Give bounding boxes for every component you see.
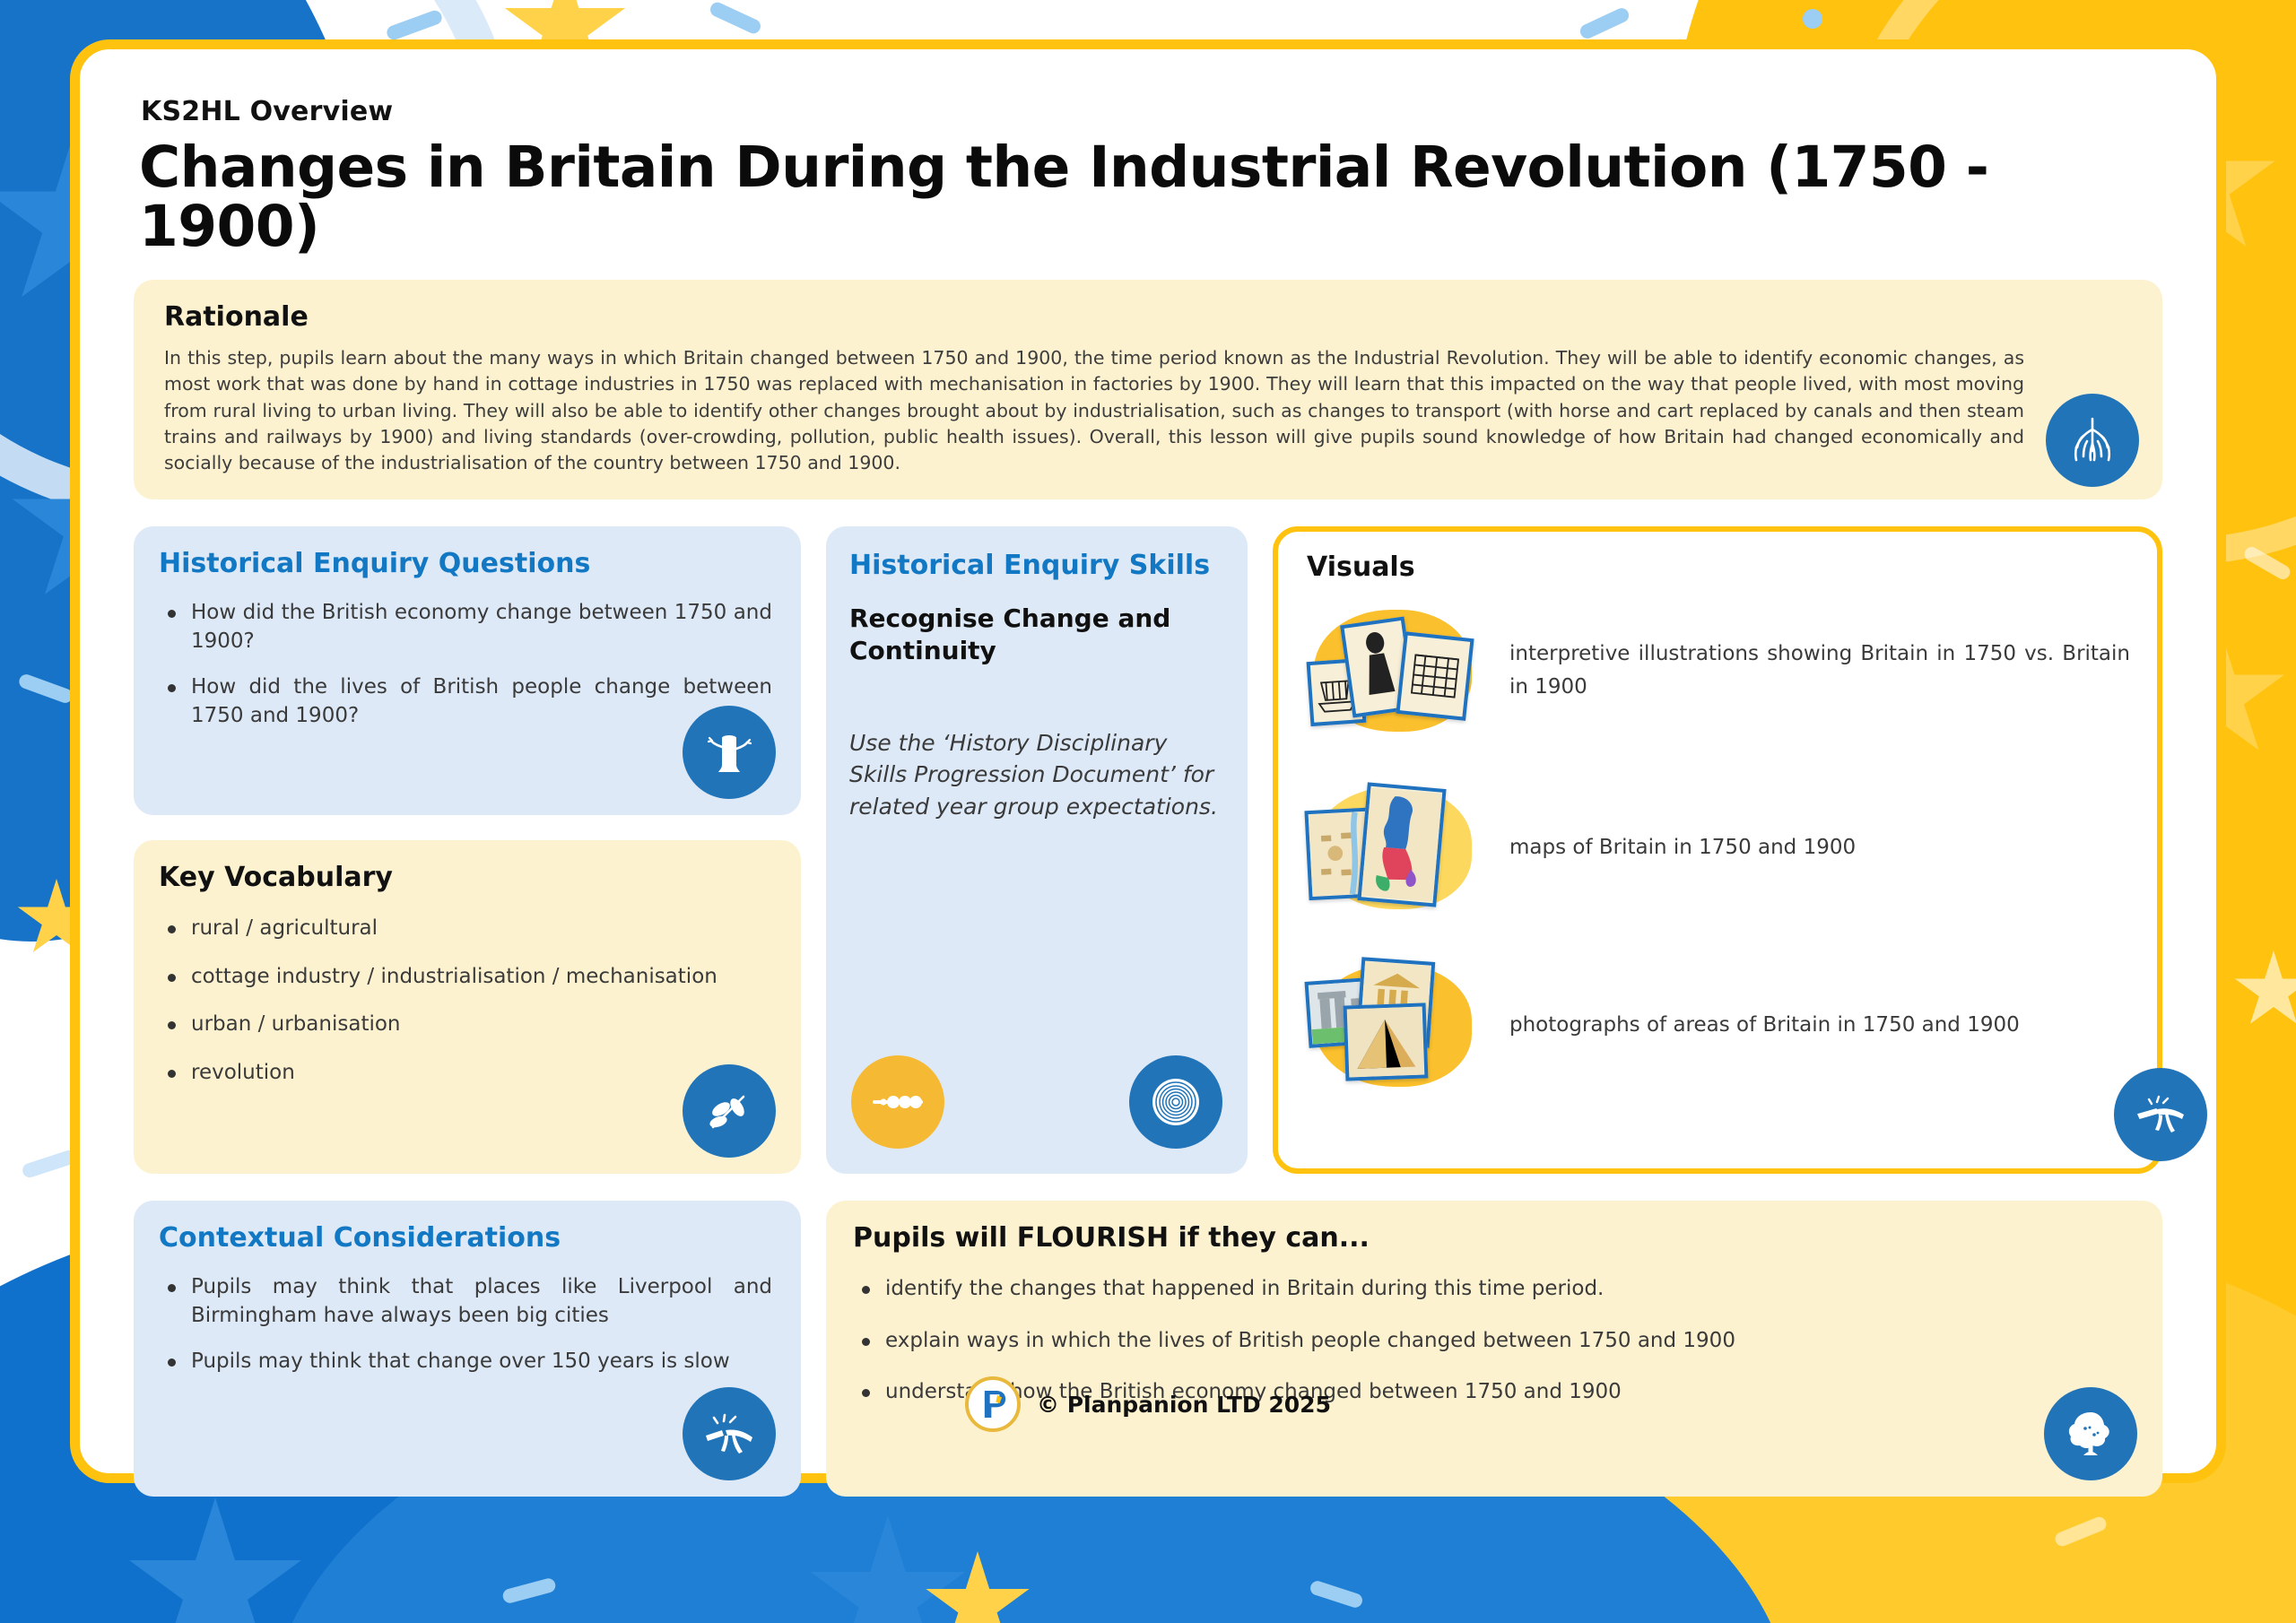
enquiry-skills-panel: Historical Enquiry Skills Recognise Chan… xyxy=(826,526,1248,1174)
roots-icon xyxy=(2046,394,2139,487)
list-item: How did the lives of British people chan… xyxy=(159,673,772,730)
poster-root: KS2HL Overview Changes in Britain During… xyxy=(0,0,2296,1623)
visuals-row: interpretive illustrations showing Brita… xyxy=(1307,604,2130,737)
tree-rings-icon xyxy=(1129,1055,1222,1149)
background-confetti xyxy=(1803,9,1822,29)
enquiry-questions-panel: Historical Enquiry Questions How did the… xyxy=(134,526,801,815)
list-item: How did the British economy change betwe… xyxy=(159,599,772,655)
enquiry-skills-heading: Historical Enquiry Skills xyxy=(849,550,1221,581)
list-item: rural / agricultural xyxy=(159,915,772,943)
tree-stump-icon xyxy=(683,706,776,799)
contextual-considerations-panel: Contextual Considerations Pupils may thi… xyxy=(134,1201,801,1497)
key-vocabulary-panel: Key Vocabulary rural / agricultural cott… xyxy=(134,840,801,1174)
rationale-panel: Rationale In this step, pupils learn abo… xyxy=(134,280,2162,499)
enquiry-questions-list: How did the British economy change betwe… xyxy=(159,599,772,731)
visuals-label: interpretive illustrations showing Brita… xyxy=(1509,638,2130,705)
page-title: Changes in Britain During the Industrial… xyxy=(139,138,2162,256)
branch-pruning-icon xyxy=(2114,1068,2207,1161)
visuals-row: maps of Britain in 1750 and 1900 xyxy=(1307,782,2130,915)
list-item: explain ways in which the lives of Briti… xyxy=(853,1327,2130,1356)
list-item: cottage industry / industrialisation / m… xyxy=(159,963,772,992)
illustrations-thumb xyxy=(1307,604,1483,737)
list-item: identify the changes that happened in Br… xyxy=(853,1275,2130,1304)
rationale-heading: Rationale xyxy=(164,301,2132,333)
key-vocabulary-list: rural / agricultural cottage industry / … xyxy=(159,915,772,1088)
contextual-considerations-list: Pupils may think that places like Liverp… xyxy=(159,1273,772,1376)
visuals-label: photographs of areas of Britain in 1750 … xyxy=(1509,1009,2020,1042)
enquiry-skill-name: Recognise Change and Continuity xyxy=(849,603,1221,668)
copyright-text: © Planpanion LTD 2025 xyxy=(1037,1392,1331,1418)
list-item: urban / urbanisation xyxy=(159,1011,772,1039)
background-confetti xyxy=(708,0,762,36)
list-item: Pupils may think that places like Liverp… xyxy=(159,1273,772,1330)
key-vocabulary-heading: Key Vocabulary xyxy=(159,862,772,893)
visuals-heading: Visuals xyxy=(1307,551,2130,583)
flourish-panel: Pupils will FLOURISH if they can... iden… xyxy=(826,1201,2162,1497)
visuals-label: maps of Britain in 1750 and 1900 xyxy=(1509,831,1856,864)
timeline-beads-icon xyxy=(851,1055,944,1149)
photographs-thumb xyxy=(1307,959,1483,1092)
planpanion-logo xyxy=(965,1376,1021,1432)
footer: © Planpanion LTD 2025 xyxy=(80,1376,2216,1432)
list-item: revolution xyxy=(159,1059,772,1088)
contextual-considerations-heading: Contextual Considerations xyxy=(159,1222,772,1254)
enquiry-questions-heading: Historical Enquiry Questions xyxy=(159,548,772,579)
visuals-row: photographs of areas of Britain in 1750 … xyxy=(1307,959,2130,1092)
list-item: Pupils may think that change over 150 ye… xyxy=(159,1348,772,1376)
visuals-panel: Visuals interpretive i xyxy=(1273,526,2162,1174)
overview-card: KS2HL Overview Changes in Britain During… xyxy=(70,39,2226,1483)
flourish-heading: Pupils will FLOURISH if they can... xyxy=(853,1222,2130,1254)
background-confetti xyxy=(1578,5,1631,40)
leaf-sprig-icon xyxy=(683,1064,776,1158)
maps-thumb xyxy=(1307,782,1483,915)
rationale-text: In this step, pupils learn about the man… xyxy=(164,345,2132,476)
enquiry-skills-note: Use the ‘History Disciplinary Skills Pro… xyxy=(849,727,1221,823)
eyebrow-label: KS2HL Overview xyxy=(141,96,2162,127)
